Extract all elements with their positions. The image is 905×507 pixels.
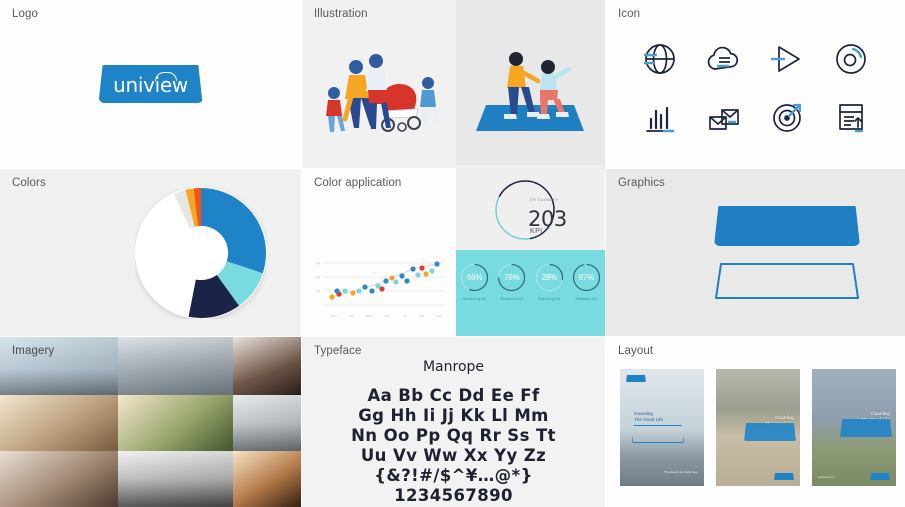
kpi-metric-ring: 75% bbox=[496, 262, 527, 293]
typeface-specimen: Manrope Aa Bb Cc Dd Ee Ff Gg Hh Ii Jj Kk… bbox=[302, 359, 605, 506]
imagery-collage-grid bbox=[0, 337, 301, 507]
kpi-metric-value: 75% bbox=[496, 262, 527, 293]
poster-footnote: The Good Life starts here bbox=[664, 470, 698, 474]
svg-text:Tue: Tue bbox=[347, 314, 353, 318]
panel-label-icon: Icon bbox=[618, 8, 640, 20]
typeface-line: Uu Vv Ww Xx Yy Zz bbox=[302, 446, 605, 466]
poster-footnote: uniview.com bbox=[818, 475, 834, 479]
typeface-line: Gg Hh Ii Jj Kk Ll Mm bbox=[302, 406, 605, 426]
poster-tagline-line1: Guarding bbox=[634, 411, 653, 416]
poster-item[interactable]: Guarding The Good Life The Good Life sta… bbox=[620, 369, 704, 486]
poster-trapezoid-solid bbox=[840, 419, 892, 437]
kpi-metric-item[interactable]: 97% Retention Kit bbox=[571, 262, 602, 301]
uniview-logo: uniview bbox=[99, 65, 203, 103]
photo-tile bbox=[233, 451, 301, 507]
panel-illustration-secondary bbox=[456, 0, 605, 168]
kpi-metric-ring: 97% bbox=[571, 262, 602, 293]
poster-item[interactable]: Guarding The Good Life uniview.com bbox=[812, 369, 896, 486]
poster-logo-badge bbox=[626, 375, 646, 382]
typeface-name: Manrope bbox=[302, 359, 605, 375]
illustration-couple-platform bbox=[476, 41, 586, 141]
logo-arc-icon bbox=[155, 72, 177, 81]
scatter-svg: 60 40 20 Mon Tue Wed Thu Fri Sat Sun bbox=[312, 255, 448, 325]
poster-tagline-line1: Guarding bbox=[871, 411, 890, 416]
panel-imagery: Imagery bbox=[0, 337, 301, 507]
svg-text:Mon: Mon bbox=[331, 314, 337, 318]
poster-tagline: Guarding The Good Life bbox=[634, 411, 663, 423]
kpi-metric-label: Monitoring Kit bbox=[459, 297, 490, 301]
color-application-scatter-chart: 60 40 20 Mon Tue Wed Thu Fri Sat Sun bbox=[312, 255, 448, 325]
mail-open-icon[interactable] bbox=[702, 95, 746, 139]
panel-kpi-dashboard: KPI SUMMARY 203 KPI 56% Monitoring Kit bbox=[456, 165, 605, 336]
panel-label-logo: Logo bbox=[12, 8, 38, 20]
kpi-metric-label: Reporting Kit bbox=[534, 297, 565, 301]
photo-tile bbox=[118, 395, 233, 451]
kpi-metric-label: Retention Kit bbox=[571, 297, 602, 301]
poster-tagline-line2: The Good Life bbox=[634, 417, 663, 422]
disc-icon[interactable] bbox=[829, 37, 873, 81]
kpi-metric-label: Response Kit bbox=[496, 297, 527, 301]
poster-logo-badge bbox=[870, 473, 890, 480]
typeface-line: {&?!#/$^¥…@*} bbox=[302, 466, 605, 486]
icon-grid bbox=[606, 30, 905, 146]
colors-donut-chart bbox=[135, 187, 267, 319]
document-upload-icon[interactable] bbox=[829, 95, 873, 139]
panel-label-typeface: Typeface bbox=[314, 345, 361, 357]
poster-tagline-line1: Guarding bbox=[775, 415, 794, 420]
svg-text:Wed: Wed bbox=[366, 314, 373, 318]
photo-tile bbox=[233, 337, 301, 395]
panel-color-application: Color application 60 40 20 Mon Tue Wed bbox=[302, 169, 456, 336]
panel-label-color-application: Color application bbox=[314, 177, 401, 189]
graphic-trapezoid-solid bbox=[714, 206, 860, 246]
typeface-line: Nn Oo Pp Qq Rr Ss Tt bbox=[302, 426, 605, 446]
panel-label-colors: Colors bbox=[12, 177, 46, 189]
panel-label-graphics: Graphics bbox=[618, 177, 665, 189]
photo-tile bbox=[118, 451, 233, 507]
kpi-metric-value: 56% bbox=[459, 262, 490, 293]
panel-label-layout: Layout bbox=[618, 345, 653, 357]
svg-text:40: 40 bbox=[316, 276, 320, 280]
kpi-metric-item[interactable]: 75% Response Kit bbox=[496, 262, 527, 301]
logo-wordmark: uniview bbox=[99, 65, 203, 103]
typeface-line: 1234567890 bbox=[302, 486, 605, 506]
kpi-metric-ring: 56% bbox=[459, 262, 490, 293]
svg-text:Sat: Sat bbox=[420, 314, 426, 318]
send-arrow-icon[interactable] bbox=[765, 37, 809, 81]
poster-logo-badge bbox=[774, 473, 794, 480]
poster-trapezoid-outline bbox=[632, 425, 684, 443]
panel-icon: Icon bbox=[606, 0, 905, 168]
photo-tile bbox=[233, 395, 301, 451]
svg-text:Sun: Sun bbox=[436, 314, 442, 318]
panel-graphics: Graphics bbox=[606, 169, 905, 336]
brand-style-guide-board: Logo uniview Illustration bbox=[0, 0, 905, 507]
svg-text:60: 60 bbox=[316, 262, 320, 266]
panel-colors: Colors bbox=[0, 169, 301, 336]
photo-tile bbox=[0, 451, 118, 507]
svg-text:Thu: Thu bbox=[383, 314, 390, 318]
kpi-metric-item[interactable]: 28% Reporting Kit bbox=[534, 262, 565, 301]
poster-list: Guarding The Good Life The Good Life sta… bbox=[620, 369, 896, 486]
photo-tile bbox=[0, 395, 118, 451]
radar-target-icon[interactable] bbox=[765, 95, 809, 139]
photo-tile bbox=[118, 337, 233, 395]
panel-illustration: Illustration bbox=[302, 0, 456, 168]
cloud-document-icon[interactable] bbox=[702, 37, 746, 81]
illustration-family-stroller bbox=[314, 41, 444, 141]
kpi-metric-row: 56% Monitoring Kit 75% Response Kit bbox=[456, 262, 605, 301]
kpi-metric-value: 97% bbox=[571, 262, 602, 293]
graphic-trapezoid-outline bbox=[714, 261, 860, 301]
poster-trapezoid-solid bbox=[744, 423, 796, 441]
typeface-line: Aa Bb Cc Dd Ee Ff bbox=[302, 386, 605, 406]
kpi-metric-value: 28% bbox=[534, 262, 565, 293]
panel-logo: Logo uniview bbox=[0, 0, 301, 168]
poster-item[interactable]: Guarding The Good Life bbox=[716, 369, 800, 486]
panel-typeface: Typeface Manrope Aa Bb Cc Dd Ee Ff Gg Hh… bbox=[302, 337, 605, 507]
logo-lockup: uniview bbox=[99, 65, 203, 103]
kpi-metric-item[interactable]: 56% Monitoring Kit bbox=[459, 262, 490, 301]
panel-label-imagery: Imagery bbox=[12, 345, 54, 357]
kpi-unit: KPI bbox=[530, 228, 542, 235]
donut-svg bbox=[135, 187, 267, 319]
panel-label-illustration: Illustration bbox=[314, 8, 368, 20]
svg-text:20: 20 bbox=[316, 290, 320, 294]
svg-text:Fri: Fri bbox=[403, 314, 407, 318]
panel-layout: Layout Guarding The Good Life The Good L… bbox=[606, 337, 905, 507]
globe-icon[interactable] bbox=[638, 37, 682, 81]
kpi-metric-ring: 28% bbox=[534, 262, 565, 293]
kpi-caption: KPI SUMMARY bbox=[530, 198, 558, 202]
bar-chart-icon[interactable] bbox=[638, 95, 682, 139]
